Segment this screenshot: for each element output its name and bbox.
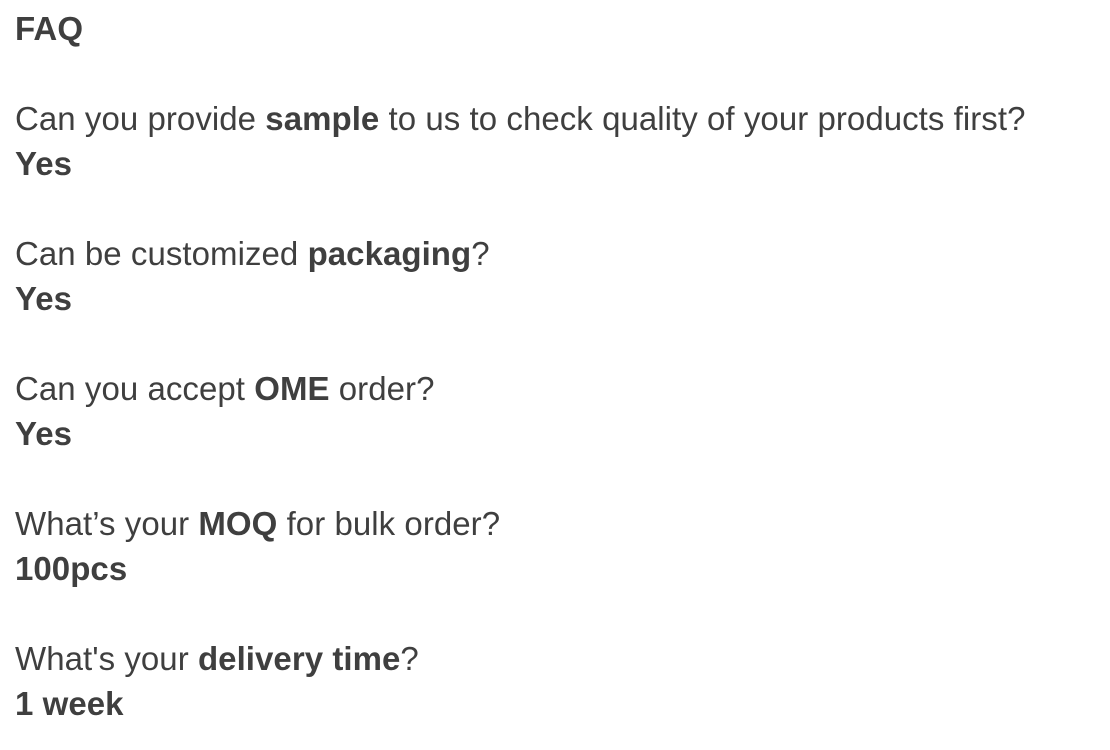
- faq-question-suffix: for bulk order?: [277, 505, 500, 542]
- faq-question-prefix: Can you provide: [15, 100, 265, 137]
- faq-question-suffix: order?: [330, 370, 435, 407]
- faq-item: Can you provide sample to us to check qu…: [15, 96, 1110, 186]
- faq-item: What's your delivery time? 1 week: [15, 636, 1110, 726]
- faq-question: Can you accept OME order?: [15, 366, 1110, 411]
- faq-question: What’s your MOQ for bulk order?: [15, 501, 1110, 546]
- faq-question-keyword: packaging: [308, 235, 472, 272]
- faq-answer: 100pcs: [15, 546, 1110, 591]
- faq-answer: 1 week: [15, 681, 1110, 726]
- faq-list: Can you provide sample to us to check qu…: [15, 96, 1110, 726]
- faq-question: What's your delivery time?: [15, 636, 1110, 681]
- faq-question: Can be customized packaging?: [15, 231, 1110, 276]
- faq-question-prefix: What's your: [15, 640, 198, 677]
- faq-question: Can you provide sample to us to check qu…: [15, 96, 1110, 141]
- faq-question-keyword: MOQ: [198, 505, 277, 542]
- faq-item: What’s your MOQ for bulk order? 100pcs: [15, 501, 1110, 591]
- faq-question-prefix: Can you accept: [15, 370, 254, 407]
- faq-question-prefix: What’s your: [15, 505, 198, 542]
- faq-question-keyword: OME: [254, 370, 329, 407]
- faq-question-prefix: Can be customized: [15, 235, 308, 272]
- faq-question-keyword: delivery time: [198, 640, 400, 677]
- page-title: FAQ: [15, 0, 1110, 51]
- faq-answer: Yes: [15, 276, 1110, 321]
- faq-question-keyword: sample: [265, 100, 379, 137]
- faq-answer: Yes: [15, 411, 1110, 456]
- faq-answer: Yes: [15, 141, 1110, 186]
- faq-question-suffix: ?: [400, 640, 418, 677]
- faq-question-suffix: to us to check quality of your products …: [379, 100, 1025, 137]
- faq-item: Can you accept OME order? Yes: [15, 366, 1110, 456]
- faq-item: Can be customized packaging? Yes: [15, 231, 1110, 321]
- faq-page: FAQ Can you provide sample to us to chec…: [0, 0, 1110, 750]
- faq-question-suffix: ?: [471, 235, 489, 272]
